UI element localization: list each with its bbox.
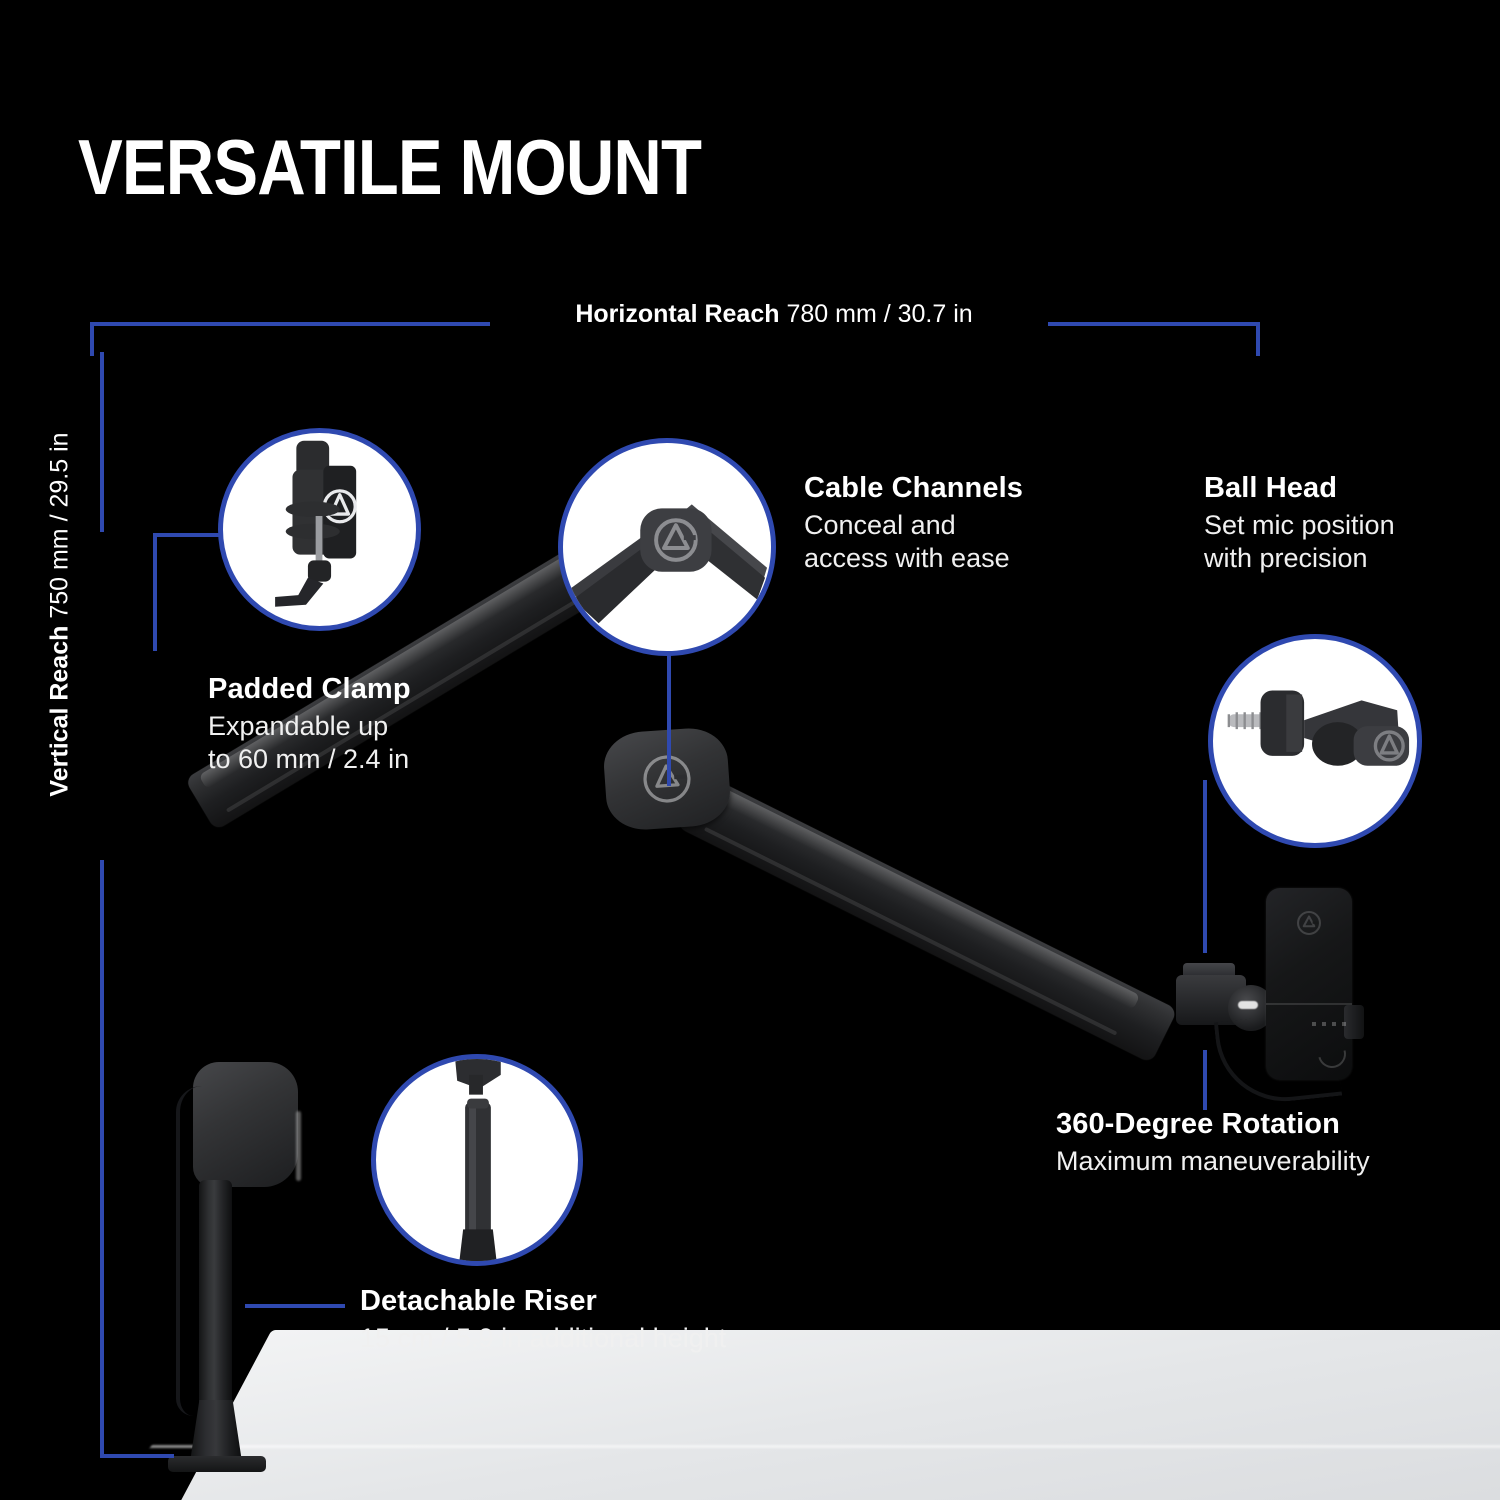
vertical-dimension-value: 750 mm / 29.5 in bbox=[46, 432, 74, 618]
feature-desc-line: to 60 mm / 2.4 in bbox=[208, 743, 411, 776]
detachable-riser-photo bbox=[376, 1059, 578, 1261]
horizontal-dimension-title: Horizontal Reach bbox=[575, 300, 779, 328]
mic-mount-bracket bbox=[1176, 975, 1246, 1025]
arm-cable-channel-groove bbox=[704, 827, 1117, 1036]
vertical-dimension-line-bottom bbox=[100, 860, 104, 1458]
connector-rotation-upper bbox=[1203, 780, 1207, 953]
ball-head-photo bbox=[1213, 639, 1417, 843]
infographic-canvas: VERSATILE MOUNT Horizontal Reach 780 mm … bbox=[0, 0, 1500, 1500]
connector-cable-channels bbox=[667, 648, 671, 786]
feature-desc-line: 15 cm / 5.9 in additional height bbox=[360, 1322, 726, 1355]
vertical-dimension-line-top bbox=[100, 352, 104, 532]
feature-heading-detachable-riser: Detachable Riser bbox=[360, 1285, 726, 1317]
connector-padded-clamp-vertical bbox=[153, 533, 157, 651]
callout-ball-head bbox=[1208, 634, 1422, 848]
vertical-dimension-label: Vertical Reach 750 mm / 29.5 in bbox=[46, 375, 75, 855]
feature-label-rotation: 360-Degree Rotation Maximum maneuverabil… bbox=[1056, 1108, 1370, 1178]
connector-rotation-lower bbox=[1203, 1050, 1207, 1110]
microphone-level-indicator bbox=[1312, 1022, 1346, 1026]
feature-heading-padded-clamp: Padded Clamp bbox=[208, 673, 411, 705]
microphone-gain-knob bbox=[1344, 1005, 1364, 1039]
microphone-dial bbox=[1313, 1035, 1351, 1073]
microphone-cable bbox=[1214, 1010, 1342, 1108]
feature-description-rotation: Maximum maneuverability bbox=[1056, 1145, 1370, 1178]
horizontal-dimension-cap-left bbox=[90, 322, 94, 356]
feature-label-cable-channels: Cable Channels Conceal and access with e… bbox=[804, 472, 1023, 575]
callout-padded-clamp bbox=[218, 428, 421, 631]
boom-arm-upper-segment bbox=[677, 773, 1178, 1063]
cable-channels-photo bbox=[563, 443, 771, 651]
feature-label-detachable-riser: Detachable Riser 15 cm / 5.9 in addition… bbox=[360, 1285, 726, 1355]
horizontal-dimension-value: 780 mm / 30.7 in bbox=[786, 300, 972, 328]
riser-foot bbox=[190, 1400, 242, 1462]
microphone-body bbox=[1266, 888, 1352, 1080]
feature-desc-line: access with ease bbox=[804, 542, 1023, 575]
feature-heading-cable-channels: Cable Channels bbox=[804, 472, 1023, 504]
desk-top bbox=[160, 1330, 1500, 1500]
vertical-dimension-title: Vertical Reach bbox=[46, 626, 74, 797]
mic-mount-bracket-top bbox=[1183, 963, 1235, 981]
ball-head-joint bbox=[1228, 985, 1274, 1031]
feature-heading-ball-head: Ball Head bbox=[1204, 472, 1395, 504]
callout-detachable-riser bbox=[371, 1054, 583, 1266]
vertical-dimension-cap-bottom bbox=[100, 1454, 174, 1458]
product-cable bbox=[176, 1086, 202, 1416]
padded-clamp-photo bbox=[223, 433, 416, 626]
feature-label-ball-head: Ball Head Set mic position with precisio… bbox=[1204, 472, 1395, 575]
desk-edge-highlight bbox=[150, 1445, 1500, 1448]
microphone-seam bbox=[1266, 1003, 1352, 1005]
horizontal-dimension-line-left bbox=[90, 322, 490, 326]
page-title: VERSATILE MOUNT bbox=[78, 128, 701, 206]
feature-desc-line: Set mic position bbox=[1204, 509, 1395, 542]
clamp-base-plate bbox=[168, 1456, 266, 1472]
horizontal-dimension-line-right bbox=[1048, 322, 1260, 326]
desk-surface bbox=[0, 1300, 1500, 1500]
feature-desc-line: Expandable up bbox=[208, 710, 411, 743]
arm-highlight bbox=[712, 786, 1140, 1010]
feature-description-detachable-riser: 15 cm / 5.9 in additional height bbox=[360, 1322, 726, 1355]
callout-cable-channels bbox=[558, 438, 776, 656]
feature-description-ball-head: Set mic position with precision bbox=[1204, 509, 1395, 575]
elgato-logo-icon bbox=[1296, 910, 1322, 936]
feature-label-padded-clamp: Padded Clamp Expandable up to 60 mm / 2.… bbox=[208, 673, 411, 776]
arm-base-pivot bbox=[193, 1062, 298, 1187]
feature-description-padded-clamp: Expandable up to 60 mm / 2.4 in bbox=[208, 710, 411, 776]
horizontal-dimension-cap-right bbox=[1256, 322, 1260, 356]
feature-heading-rotation: 360-Degree Rotation bbox=[1056, 1108, 1370, 1140]
feature-desc-line: Maximum maneuverability bbox=[1056, 1145, 1370, 1178]
feature-desc-line: Conceal and bbox=[804, 509, 1023, 542]
connector-detachable-riser bbox=[245, 1304, 345, 1308]
feature-description-cable-channels: Conceal and access with ease bbox=[804, 509, 1023, 575]
riser-post bbox=[199, 1180, 232, 1430]
horizontal-dimension-label: Horizontal Reach 780 mm / 30.7 in bbox=[500, 300, 1048, 329]
feature-desc-line: with precision bbox=[1204, 542, 1395, 575]
